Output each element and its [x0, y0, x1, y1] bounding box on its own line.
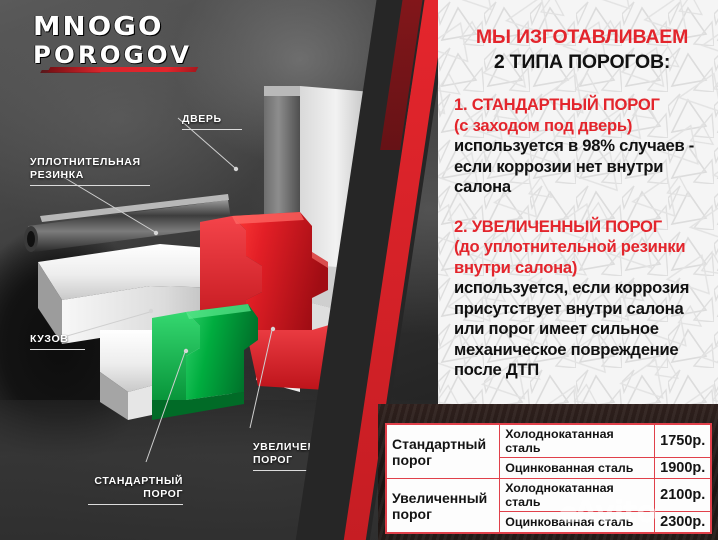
callout-door-label: ДВЕРЬ [182, 113, 222, 125]
sill-type-block-enlarged: 2. УВЕЛИЧЕННЫЙ ПОРОГ (до уплотнительной … [454, 217, 710, 381]
block1-subtitle: (с заходом под дверь) [454, 116, 710, 137]
price-value: 1750р. [655, 424, 711, 458]
callout-standard-sill: СТАНДАРТНЫЙ ПОРОГ [88, 462, 183, 518]
infographic-page: MNOGO POROGOV [0, 0, 718, 540]
callout-seal-rule [30, 185, 150, 186]
block2-body: используется, если коррозия присутствует… [454, 278, 710, 381]
price-type-enlarged: Увеличенный порог [386, 479, 500, 534]
callout-door-rule [182, 129, 242, 130]
price-value: 1900р. [655, 458, 711, 479]
standard-sill-green [152, 304, 258, 420]
price-material: Холоднокатанная сталь [500, 479, 655, 512]
price-material: Оцинкованная сталь [500, 512, 655, 534]
price-type-standard: Стандартный порог [386, 424, 500, 479]
block1-body: используется в 98% случаев - если корроз… [454, 136, 710, 198]
block2-title: 2. УВЕЛИЧЕННЫЙ ПОРОГ [454, 217, 710, 238]
price-material: Оцинкованная сталь [500, 458, 655, 479]
price-value: 2100р. [655, 479, 711, 512]
price-material: Холоднокатанная сталь [500, 424, 655, 458]
table-row: Увеличенный порог Холоднокатанная сталь … [386, 479, 711, 512]
callout-standard-sill-rule [88, 504, 183, 505]
panel-heading-secondary: 2 ТИПА ПОРОГОВ: [454, 50, 710, 74]
callout-body: КУЗОВ [30, 320, 85, 363]
table-row: Стандартный порог Холоднокатанная сталь … [386, 424, 711, 458]
block2-subtitle: (до уплотнительной резинки внутри салона… [454, 237, 710, 278]
price-table: Стандартный порог Холоднокатанная сталь … [385, 423, 712, 534]
block1-title: 1. СТАНДАРТНЫЙ ПОРОГ [454, 95, 710, 116]
price-value: 2300р. [655, 512, 711, 534]
info-panel-content: МЫ ИЗГОТАВЛИВАЕМ 2 ТИПА ПОРОГОВ: 1. СТАН… [438, 0, 718, 381]
callout-seal-label: УПЛОТНИТЕЛЬНАЯ РЕЗИНКА [30, 156, 141, 181]
callout-standard-sill-label: СТАНДАРТНЫЙ ПОРОГ [94, 475, 183, 500]
callout-body-rule [30, 349, 85, 350]
panel-heading-primary: МЫ ИЗГОТАВЛИВАЕМ [454, 26, 710, 49]
sill-type-block-standard: 1. СТАНДАРТНЫЙ ПОРОГ (с заходом под двер… [454, 95, 710, 198]
callout-door: ДВЕРЬ [182, 100, 242, 143]
callout-seal: УПЛОТНИТЕЛЬНАЯ РЕЗИНКА [30, 143, 150, 199]
callout-body-label: КУЗОВ [30, 333, 68, 345]
